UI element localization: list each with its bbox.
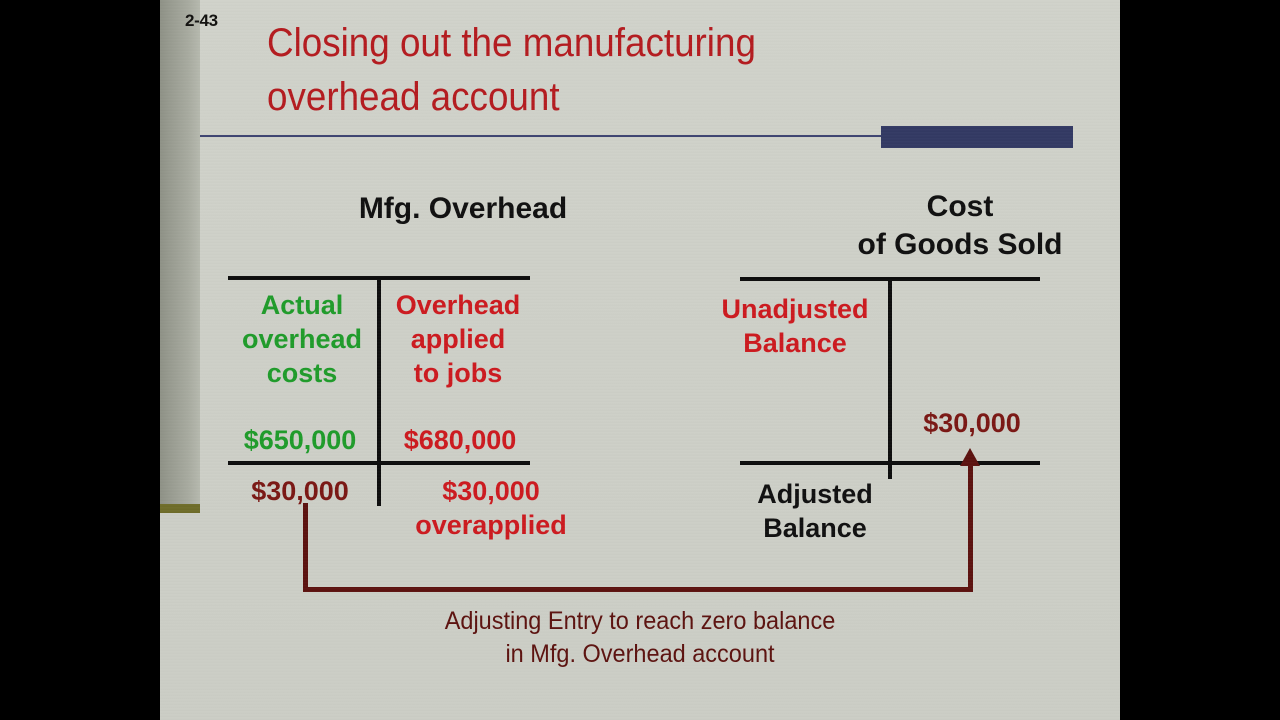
cogs-credit-amount: $30,000 [892, 406, 1052, 440]
title-accent-block [881, 126, 1073, 148]
mfg-overhead-debit-closing: $30,000 [222, 474, 378, 508]
left-rail-decoration [160, 0, 200, 506]
left-rail-accent-bar [160, 504, 200, 513]
slide-number: 2-43 [185, 12, 218, 29]
mfg-overhead-credit-closing: $30,000 overapplied [378, 474, 604, 542]
mfg-overhead-credit-amount: $680,000 [382, 423, 538, 457]
caption-text: Adjusting Entry to reach zero balance in… [264, 605, 1016, 671]
connector-horizontal [303, 587, 973, 592]
cogs-unadjusted-balance-label: Unadjusted Balance [700, 292, 890, 360]
mfg-overhead-total-rule [228, 461, 530, 465]
cogs-adjusted-balance-label: Adjusted Balance [722, 477, 908, 545]
connector-right-stem [968, 465, 973, 592]
mfg-overhead-top-rule-right-half [378, 276, 530, 280]
mfg-overhead-debit-label: Actual overhead costs [228, 288, 376, 390]
connector-left-stem [303, 503, 308, 592]
page-title: Closing out the manufacturing overhead a… [267, 16, 966, 124]
account-title-mfg-overhead: Mfg. Overhead [228, 190, 698, 228]
cogs-total-rule [740, 461, 1040, 465]
arrow-up-icon [960, 448, 980, 466]
mfg-overhead-credit-label: Overhead applied to jobs [382, 288, 534, 390]
mfg-overhead-center-divider [377, 278, 381, 506]
mfg-overhead-debit-amount: $650,000 [222, 423, 378, 457]
screen: 2-43 Closing out the manufacturing overh… [0, 0, 1280, 720]
account-title-cost-of-goods-sold: Cost of Goods Sold [740, 188, 1120, 264]
slide-canvas: 2-43 Closing out the manufacturing overh… [160, 0, 1120, 720]
